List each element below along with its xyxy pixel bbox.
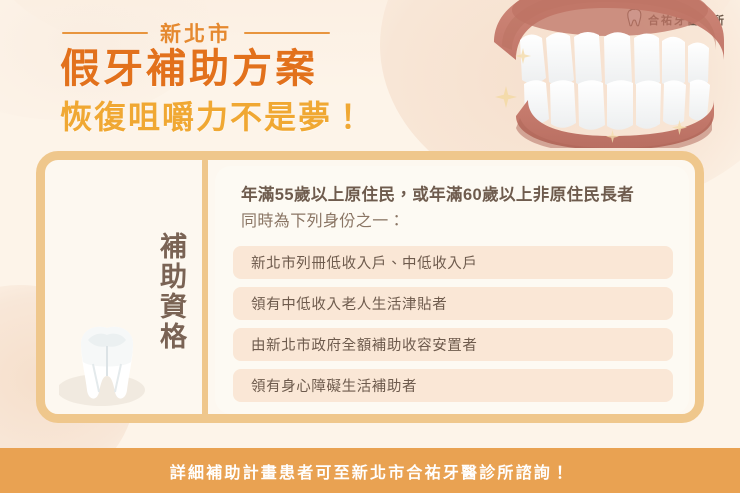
header: 新北市 假牙補助方案 恢復咀嚼力不是夢！ 合祐牙醫診所 [0,0,740,148]
eligibility-label: 補助資格 [137,192,191,392]
page-subtitle: 恢復咀嚼力不是夢！ [60,100,366,135]
card-divider [202,158,208,418]
list-item: 領有中低收入老人生活津貼者 [233,287,673,320]
eyebrow-label: 新北市 [160,18,232,48]
eyebrow-rule-right [244,32,330,34]
requirement-list: 新北市列冊低收入戶、中低收入戶 領有中低收入老人生活津貼者 由新北市政府全額補助… [233,246,673,402]
footer-text: 詳細補助計畫患者可至新北市合祐牙醫診所諮詢！ [170,459,570,483]
eligibility-lead-line-1: 年滿55歲以上原住民，或年滿60歲以上非原住民長者 [241,187,681,204]
list-item: 由新北市政府全額補助收容安置者 [233,328,673,361]
eligibility-lead-line-2: 同時為下列身份之一： [241,214,681,230]
eyebrow-row: 新北市 [62,20,362,46]
poster-canvas: 新北市 假牙補助方案 恢復咀嚼力不是夢！ 合祐牙醫診所 [0,0,740,493]
footer-bar: 詳細補助計畫患者可至新北市合祐牙醫診所諮詢！ [0,448,740,493]
page-title: 假牙補助方案 [60,48,318,91]
eligibility-panel: 年滿55歲以上原住民，或年滿60歲以上非原住民長者 同時為下列身份之一： 新北市… [215,166,689,414]
list-item: 領有身心障礙生活補助者 [233,369,673,402]
eyebrow-rule-left [62,32,148,34]
list-item: 新北市列冊低收入戶、中低收入戶 [233,246,673,279]
denture-illustration [476,0,740,148]
eligibility-card: 補助資格 年滿55歲以上原住民，或年滿60歲以上非原住民長者 同時為下列身份之一… [36,151,704,423]
